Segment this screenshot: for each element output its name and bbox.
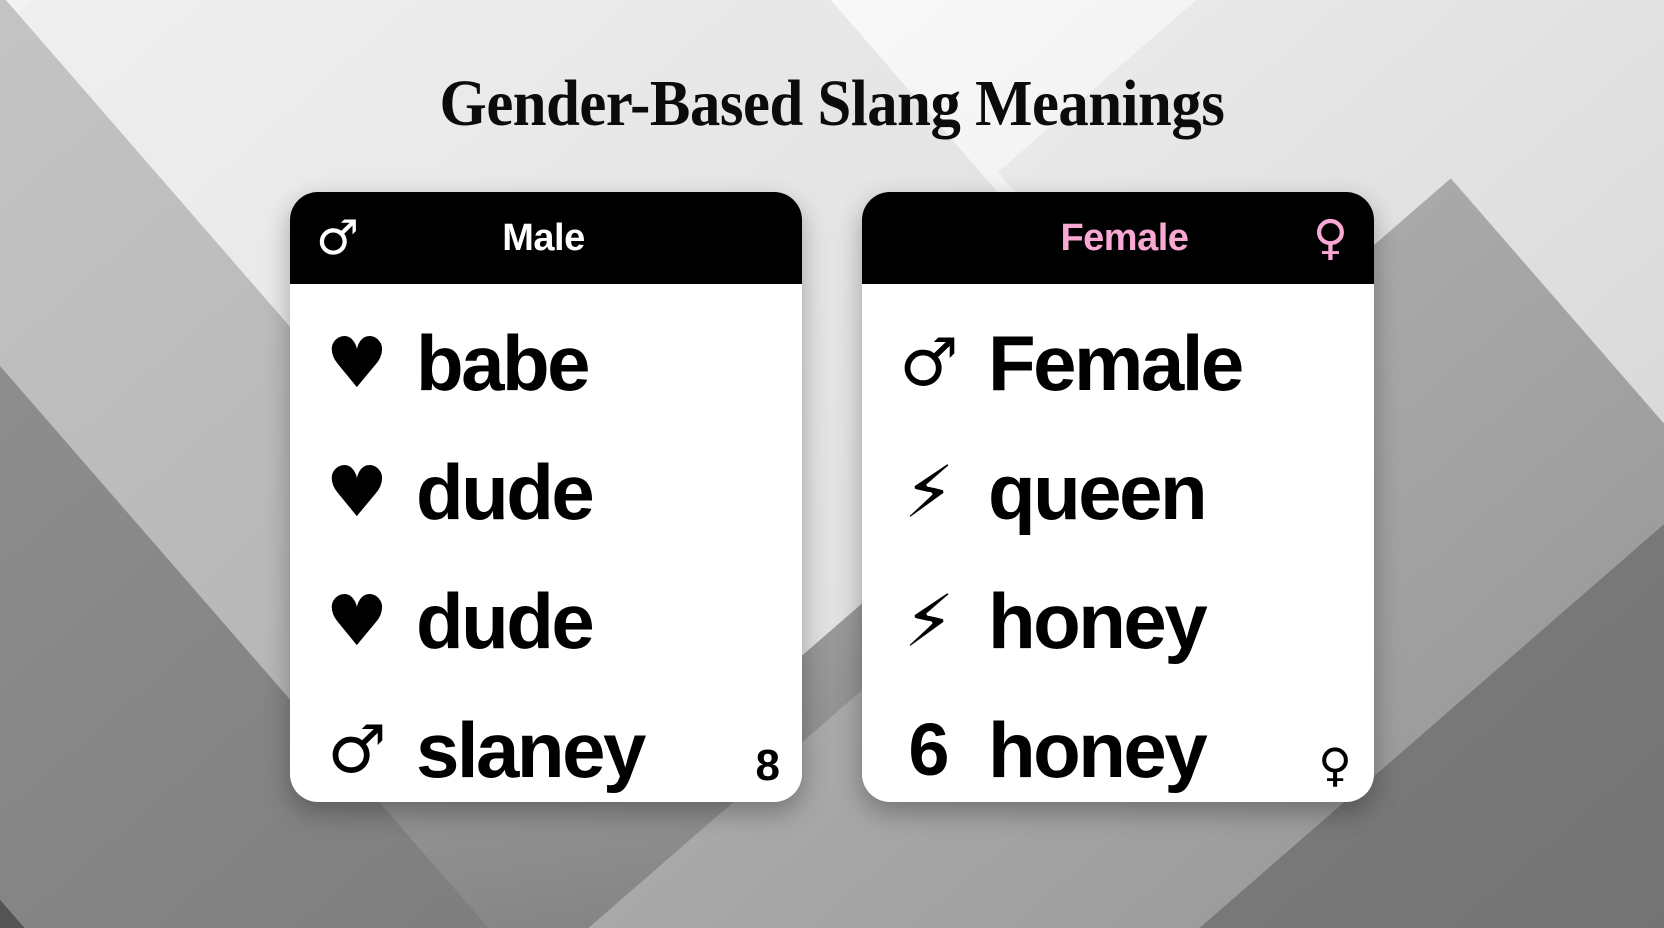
count-badge: 8 [756,744,780,788]
mars-icon: ♂ [316,214,359,262]
list-item-label: babe [416,324,588,402]
heart-icon: ♥ [320,457,394,527]
female-card-list: ♂ Female ⚡ queen ⚡ honey 6 honey [862,284,1374,802]
list-item[interactable]: ♥ babe [320,302,772,423]
venus-badge: ♀ [1318,742,1352,788]
bolt-icon: ⚡ [892,585,966,657]
list-item-label: slaney [416,711,644,789]
heart-icon: ♥ [320,586,394,656]
list-item-label: honey [988,711,1205,789]
mars-icon: ♂ [892,330,966,396]
female-card-title: Female [936,217,1313,260]
list-item-label: dude [416,582,592,660]
list-item-label: Female [988,324,1242,402]
male-card-title: Male [359,217,728,260]
list-item[interactable]: ♂ slaney [320,689,772,802]
list-item[interactable]: ♥ dude [320,560,772,681]
list-item[interactable]: ♂ Female [892,302,1344,423]
female-card: Female ♀ ♂ Female ⚡ queen ⚡ honey 6 [862,192,1374,802]
male-card-header: ♂ Male [290,192,802,284]
male-card: ♂ Male ♥ babe ♥ dude ♥ dude ♂ [290,192,802,802]
page-title: Gender-Based Slang Meanings [67,68,1598,141]
slide-stage: Gender-Based Slang Meanings ♂ Male ♥ bab… [0,0,1664,928]
male-card-list: ♥ babe ♥ dude ♥ dude ♂ slaney [290,284,802,802]
venus-icon: ♀ [1313,214,1348,262]
list-item-label: honey [988,582,1205,660]
list-item-label: queen [988,453,1205,531]
list-item-label: dude [416,453,592,531]
card-row: ♂ Male ♥ babe ♥ dude ♥ dude ♂ [0,192,1664,802]
bolt-icon: ⚡ [892,456,966,528]
list-item[interactable]: 6 honey [892,689,1344,802]
list-item[interactable]: ♥ dude [320,431,772,552]
mars-icon: ♂ [320,717,394,783]
list-item[interactable]: ⚡ honey [892,560,1344,681]
female-card-header: Female ♀ [862,192,1374,284]
heart-icon: ♥ [320,328,394,398]
list-item[interactable]: ⚡ queen [892,431,1344,552]
digit-six-icon: 6 [892,713,966,787]
